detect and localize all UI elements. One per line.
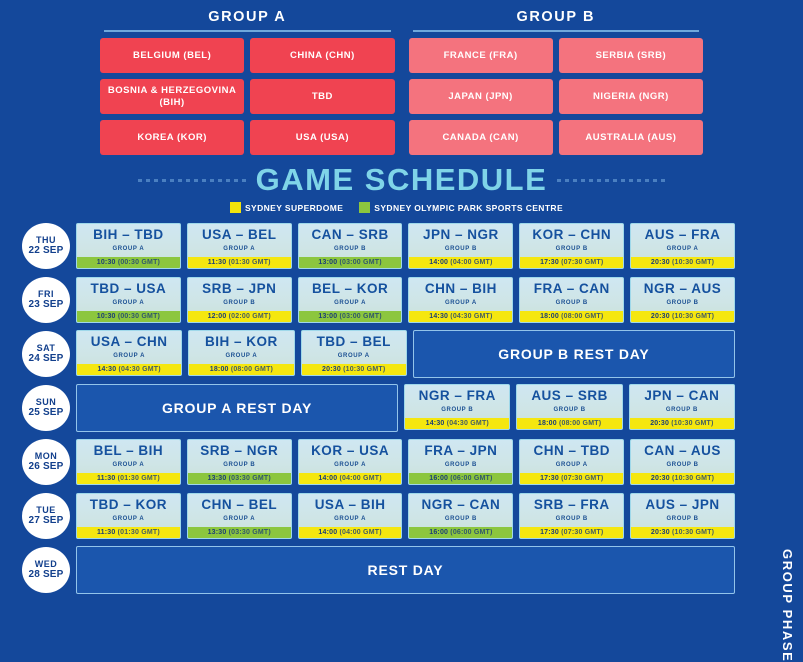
match-teams: USA – BIH [299,494,402,512]
match-teams: USA – BEL [188,224,291,242]
schedule-row: WED 28 SEP REST DAY [22,543,803,597]
match-card[interactable]: BEL – KOR GROUP A 13:00 (03:00 GMT) [298,277,403,323]
match-group: GROUP A [189,353,293,360]
match-time: 14:00 (04:00 GMT) [299,473,402,484]
dashed-rule-right [557,179,665,182]
match-teams: CHN – BIH [409,278,512,296]
match-gmt-time: (03:00 GMT) [339,313,381,320]
match-teams: USA – CHN [77,331,181,349]
match-card[interactable]: SRB – JPN GROUP B 12:00 (02:00 GMT) [187,277,292,323]
match-time: 20:30 (10:30 GMT) [302,364,406,375]
match-gmt-time: (03:30 GMT) [229,529,271,536]
match-gmt-time: (10:30 GMT) [672,529,714,536]
match-local-time: 17:30 [540,259,559,266]
match-group: GROUP B [409,246,512,253]
team-cell: NIGERIA (NGR) [559,79,703,114]
match-local-time: 14:30 [97,366,116,373]
match-card[interactable]: TBD – BEL GROUP A 20:30 (10:30 GMT) [301,330,407,376]
legend-swatch-icon [359,202,370,213]
match-gmt-time: (04:30 GMT) [450,313,492,320]
day-date: 25 SEP [28,407,63,419]
group-a-grid: BELGIUM (BEL) CHINA (CHN) BOSNIA & HERZE… [100,38,395,155]
match-time: 13:00 (03:00 GMT) [299,311,402,322]
match-gmt-time: (10:30 GMT) [671,420,713,427]
match-time: 18:00 (08:00 GMT) [520,311,623,322]
day-name: MON [35,451,58,461]
day-date: 27 SEP [28,515,63,527]
match-local-time: 17:30 [540,529,559,536]
group-b-grid: FRANCE (FRA) SERBIA (SRB) JAPAN (JPN) NI… [409,38,704,155]
group-b-title: GROUP B [409,6,704,30]
match-time: 14:00 (04:00 GMT) [409,257,512,268]
match-teams: CHN – BEL [188,494,291,512]
match-card[interactable]: NGR – FRA GROUP B 14:30 (04:30 GMT) [404,384,510,430]
match-gmt-time: (03:00 GMT) [339,259,381,266]
venue-legend: SYDNEY SUPERDOME SYDNEY OLYMPIC PARK SPO… [0,202,803,213]
match-gmt-time: (00:30 GMT) [118,259,160,266]
match-gmt-time: (07:30 GMT) [561,475,603,482]
team-cell: BOSNIA & HERZEGOVINA (BIH) [100,79,244,114]
match-local-time: 11:30 [97,529,116,536]
match-group: GROUP A [299,516,402,523]
match-teams: AUS – JPN [631,494,734,512]
day-date: 24 SEP [28,353,63,365]
match-group: GROUP B [405,407,509,414]
match-list: REST DAY [76,546,803,594]
match-time: 13:30 (03:30 GMT) [188,473,291,484]
match-group: GROUP B [409,516,512,523]
match-time: 14:00 (04:00 GMT) [299,527,402,538]
match-gmt-time: (00:30 GMT) [118,313,160,320]
match-local-time: 14:00 [429,259,448,266]
match-local-time: 11:30 [208,259,227,266]
day-badge: SUN 25 SEP [22,385,70,431]
team-cell: CANADA (CAN) [409,120,553,155]
day-name: SAT [37,343,56,353]
match-gmt-time: (07:30 GMT) [561,529,603,536]
schedule-row: FRI 23 SEP TBD – USA GROUP A 10:30 (00:3… [22,273,803,327]
day-date: 22 SEP [28,245,63,257]
match-time: 14:30 (04:30 GMT) [409,311,512,322]
match-gmt-time: (08:00 GMT) [231,366,273,373]
match-teams: BIH – TBD [77,224,180,242]
match-gmt-time: (04:00 GMT) [339,475,381,482]
group-block-b: GROUP B FRANCE (FRA) SERBIA (SRB) JAPAN … [409,6,704,155]
match-teams: SRB – FRA [520,494,623,512]
match-teams: BEL – KOR [299,278,402,296]
schedule-row: MON 26 SEP BEL – BIH GROUP A 11:30 (01:3… [22,435,803,489]
day-name: FRI [38,289,54,299]
match-time: 11:30 (01:30 GMT) [77,473,180,484]
match-local-time: 13:30 [208,475,227,482]
legend-item-superdome: SYDNEY SUPERDOME [230,202,343,213]
team-cell: USA (USA) [250,120,394,155]
match-local-time: 17:30 [540,475,559,482]
match-gmt-time: (03:30 GMT) [229,475,271,482]
match-teams: JPN – NGR [409,224,512,242]
match-time: 17:30 (07:30 GMT) [520,527,623,538]
match-time: 20:30 (10:30 GMT) [631,311,734,322]
team-cell: FRANCE (FRA) [409,38,553,73]
match-time: 10:30 (00:30 GMT) [77,311,180,322]
team-cell: CHINA (CHN) [250,38,394,73]
match-group: GROUP B [520,246,623,253]
match-group: GROUP A [77,300,180,307]
match-local-time: 20:30 [651,475,670,482]
match-card[interactable]: CAN – SRB GROUP B 13:00 (03:00 GMT) [298,223,403,269]
match-teams: AUS – FRA [631,224,734,242]
match-local-time: 14:00 [318,529,337,536]
match-local-time: 12:00 [208,313,227,320]
match-card[interactable]: FRA – CAN GROUP B 18:00 (08:00 GMT) [519,277,624,323]
match-list: USA – CHN GROUP A 14:30 (04:30 GMT) BIH … [76,330,803,378]
match-local-time: 18:00 [210,366,229,373]
match-local-time: 18:00 [538,420,557,427]
match-card[interactable]: BEL – BIH GROUP A 11:30 (01:30 GMT) [76,439,181,485]
match-time: 18:00 (08:00 GMT) [189,364,293,375]
match-teams: BIH – KOR [189,331,293,349]
match-card[interactable]: USA – CHN GROUP A 14:30 (04:30 GMT) [76,330,182,376]
team-cell: TBD [250,79,394,114]
team-cell: KOREA (KOR) [100,120,244,155]
match-time: 13:00 (03:00 GMT) [299,257,402,268]
match-card[interactable]: TBD – KOR GROUP A 11:30 (01:30 GMT) [76,493,181,539]
page-title: GAME SCHEDULE [256,162,548,198]
team-cell: BELGIUM (BEL) [100,38,244,73]
day-name: TUE [36,505,56,515]
schedule-table: THU 22 SEP BIH – TBD GROUP A 10:30 (00:3… [0,219,803,597]
match-card[interactable]: AUS – JPN GROUP B 20:30 (10:30 GMT) [630,493,735,539]
match-list: GROUP A REST DAY NGR – FRA GROUP B 14:30… [76,384,803,432]
title-row: GAME SCHEDULE [0,162,803,198]
match-teams: NGR – AUS [631,278,734,296]
match-time: 11:30 (01:30 GMT) [188,257,291,268]
match-teams: KOR – CHN [520,224,623,242]
team-cell: SERBIA (SRB) [559,38,703,73]
match-gmt-time: (04:30 GMT) [447,420,489,427]
match-teams: TBD – USA [77,278,180,296]
match-group: GROUP A [409,300,512,307]
match-group: GROUP A [77,353,181,360]
group-b-rest-day-banner: GROUP B REST DAY [413,330,735,378]
match-time: 14:30 (04:30 GMT) [405,418,509,429]
match-teams: CAN – AUS [631,440,734,458]
match-card[interactable]: NGR – AUS GROUP B 20:30 (10:30 GMT) [630,277,735,323]
day-badge: FRI 23 SEP [22,277,70,323]
match-group: GROUP B [188,300,291,307]
schedule-row: SAT 24 SEP USA – CHN GROUP A 14:30 (04:3… [22,327,803,381]
match-card[interactable]: NGR – CAN GROUP B 16:00 (06:00 GMT) [408,493,513,539]
day-badge: WED 28 SEP [22,547,70,593]
day-name: WED [35,559,58,569]
match-list: BEL – BIH GROUP A 11:30 (01:30 GMT) SRB … [76,439,803,485]
match-group: GROUP B [409,462,512,469]
match-time: 16:00 (06:00 GMT) [409,527,512,538]
match-local-time: 10:30 [97,313,116,320]
match-card[interactable]: SRB – NGR GROUP B 13:30 (03:30 GMT) [187,439,292,485]
match-gmt-time: (08:00 GMT) [559,420,601,427]
day-name: THU [36,235,56,245]
match-group: GROUP A [299,300,402,307]
match-time: 16:00 (06:00 GMT) [409,473,512,484]
match-gmt-time: (04:00 GMT) [450,259,492,266]
match-local-time: 20:30 [650,420,669,427]
match-local-time: 11:30 [97,475,116,482]
group-phase-label: GROUP PHASE [780,549,795,662]
match-gmt-time: (08:00 GMT) [561,313,603,320]
schedule-row: TUE 27 SEP TBD – KOR GROUP A 11:30 (01:3… [22,489,803,543]
match-teams: KOR – USA [299,440,402,458]
match-local-time: 13:00 [318,313,337,320]
match-time: 12:00 (02:00 GMT) [188,311,291,322]
match-list: BIH – TBD GROUP A 10:30 (00:30 GMT) USA … [76,223,803,269]
match-card[interactable]: JPN – NGR GROUP B 14:00 (04:00 GMT) [408,223,513,269]
team-cell: JAPAN (JPN) [409,79,553,114]
match-time: 11:30 (01:30 GMT) [77,527,180,538]
rest-day-banner: REST DAY [76,546,735,594]
match-list: TBD – KOR GROUP A 11:30 (01:30 GMT) CHN … [76,493,803,539]
match-teams: FRA – JPN [409,440,512,458]
match-gmt-time: (10:30 GMT) [672,259,714,266]
match-time: 17:30 (07:30 GMT) [520,473,623,484]
match-card[interactable]: USA – BEL GROUP A 11:30 (01:30 GMT) [187,223,292,269]
match-gmt-time: (02:00 GMT) [229,313,271,320]
match-gmt-time: (10:30 GMT) [672,313,714,320]
match-group: GROUP A [188,246,291,253]
group-a-title: GROUP A [100,6,395,30]
match-card[interactable]: KOR – CHN GROUP B 17:30 (07:30 GMT) [519,223,624,269]
match-card[interactable]: FRA – JPN GROUP B 16:00 (06:00 GMT) [408,439,513,485]
group-tables: GROUP A BELGIUM (BEL) CHINA (CHN) BOSNIA… [0,0,803,155]
match-group: GROUP B [517,407,621,414]
match-gmt-time: (06:00 GMT) [450,475,492,482]
day-badge: THU 22 SEP [22,223,70,269]
schedule-row: SUN 25 SEP GROUP A REST DAY NGR – FRA GR… [22,381,803,435]
match-teams: TBD – KOR [77,494,180,512]
match-card[interactable]: KOR – USA GROUP A 14:00 (04:00 GMT) [298,439,403,485]
match-group: GROUP A [77,246,180,253]
match-group: GROUP B [630,407,734,414]
match-group: GROUP B [631,462,734,469]
day-name: SUN [36,397,57,407]
match-local-time: 14:00 [318,475,337,482]
day-badge: TUE 27 SEP [22,493,70,539]
match-teams: NGR – CAN [409,494,512,512]
match-local-time: 20:30 [651,259,670,266]
match-local-time: 16:00 [429,475,448,482]
match-card[interactable]: CHN – BIH GROUP A 14:30 (04:30 GMT) [408,277,513,323]
match-gmt-time: (06:00 GMT) [450,529,492,536]
match-teams: AUS – SRB [517,385,621,403]
match-local-time: 14:30 [429,313,448,320]
match-local-time: 20:30 [651,313,670,320]
match-time: 20:30 (10:30 GMT) [631,527,734,538]
match-gmt-time: (01:30 GMT) [228,259,270,266]
legend-swatch-icon [230,202,241,213]
match-list: TBD – USA GROUP A 10:30 (00:30 GMT) SRB … [76,277,803,323]
match-group: GROUP B [631,516,734,523]
match-gmt-time: (10:30 GMT) [343,366,385,373]
match-teams: TBD – BEL [302,331,406,349]
match-group: GROUP A [520,462,623,469]
match-local-time: 14:30 [426,420,445,427]
match-card[interactable]: AUS – SRB GROUP B 18:00 (08:00 GMT) [516,384,622,430]
match-time: 14:30 (04:30 GMT) [77,364,181,375]
match-time: 20:30 (10:30 GMT) [631,473,734,484]
match-local-time: 20:30 [651,529,670,536]
day-badge: SAT 24 SEP [22,331,70,377]
match-gmt-time: (04:00 GMT) [339,529,381,536]
match-group: GROUP B [299,246,402,253]
schedule-row: THU 22 SEP BIH – TBD GROUP A 10:30 (00:3… [22,219,803,273]
match-card[interactable]: TBD – USA GROUP A 10:30 (00:30 GMT) [76,277,181,323]
match-time: 17:30 (07:30 GMT) [520,257,623,268]
match-teams: CHN – TBD [520,440,623,458]
match-teams: SRB – NGR [188,440,291,458]
match-teams: FRA – CAN [520,278,623,296]
match-gmt-time: (01:30 GMT) [118,475,160,482]
match-card[interactable]: CHN – TBD GROUP A 17:30 (07:30 GMT) [519,439,624,485]
group-a-divider [104,30,391,32]
match-card[interactable]: SRB – FRA GROUP B 17:30 (07:30 GMT) [519,493,624,539]
match-group: GROUP A [77,516,180,523]
match-card[interactable]: AUS – FRA GROUP A 20:30 (10:30 GMT) [630,223,735,269]
match-group: GROUP A [299,462,402,469]
match-card[interactable]: JPN – CAN GROUP B 20:30 (10:30 GMT) [629,384,735,430]
legend-label: SYDNEY OLYMPIC PARK SPORTS CENTRE [374,203,563,213]
match-time: 20:30 (10:30 GMT) [630,418,734,429]
team-cell: AUSTRALIA (AUS) [559,120,703,155]
match-gmt-time: (07:30 GMT) [561,259,603,266]
match-card[interactable]: CAN – AUS GROUP B 20:30 (10:30 GMT) [630,439,735,485]
group-a-rest-day-banner: GROUP A REST DAY [76,384,398,432]
match-group: GROUP B [188,462,291,469]
match-teams: SRB – JPN [188,278,291,296]
match-local-time: 20:30 [322,366,341,373]
match-group: GROUP B [520,516,623,523]
match-group: GROUP A [631,246,734,253]
match-time: 10:30 (00:30 GMT) [77,257,180,268]
match-time: 18:00 (08:00 GMT) [517,418,621,429]
match-teams: JPN – CAN [630,385,734,403]
day-date: 26 SEP [28,461,63,473]
day-date: 23 SEP [28,299,63,311]
group-b-divider [413,30,700,32]
match-local-time: 10:30 [97,259,116,266]
match-group: GROUP A [188,516,291,523]
match-card[interactable]: BIH – TBD GROUP A 10:30 (00:30 GMT) [76,223,181,269]
match-group: GROUP B [631,300,734,307]
match-card[interactable]: BIH – KOR GROUP A 18:00 (08:00 GMT) [188,330,294,376]
match-gmt-time: (10:30 GMT) [672,475,714,482]
match-card[interactable]: USA – BIH GROUP A 14:00 (04:00 GMT) [298,493,403,539]
match-gmt-time: (04:30 GMT) [119,366,161,373]
legend-item-sopsc: SYDNEY OLYMPIC PARK SPORTS CENTRE [359,202,563,213]
match-group: GROUP A [302,353,406,360]
match-local-time: 13:00 [318,259,337,266]
match-group: GROUP B [520,300,623,307]
match-teams: CAN – SRB [299,224,402,242]
match-teams: BEL – BIH [77,440,180,458]
match-gmt-time: (01:30 GMT) [118,529,160,536]
group-block-a: GROUP A BELGIUM (BEL) CHINA (CHN) BOSNIA… [100,6,395,155]
match-group: GROUP A [77,462,180,469]
match-local-time: 16:00 [429,529,448,536]
legend-label: SYDNEY SUPERDOME [245,203,343,213]
day-badge: MON 26 SEP [22,439,70,485]
match-card[interactable]: CHN – BEL GROUP A 13:30 (03:30 GMT) [187,493,292,539]
match-time: 13:30 (03:30 GMT) [188,527,291,538]
day-date: 28 SEP [28,569,63,581]
dashed-rule-left [138,179,246,182]
match-teams: NGR – FRA [405,385,509,403]
match-time: 20:30 (10:30 GMT) [631,257,734,268]
match-local-time: 18:00 [540,313,559,320]
match-local-time: 13:30 [208,529,227,536]
